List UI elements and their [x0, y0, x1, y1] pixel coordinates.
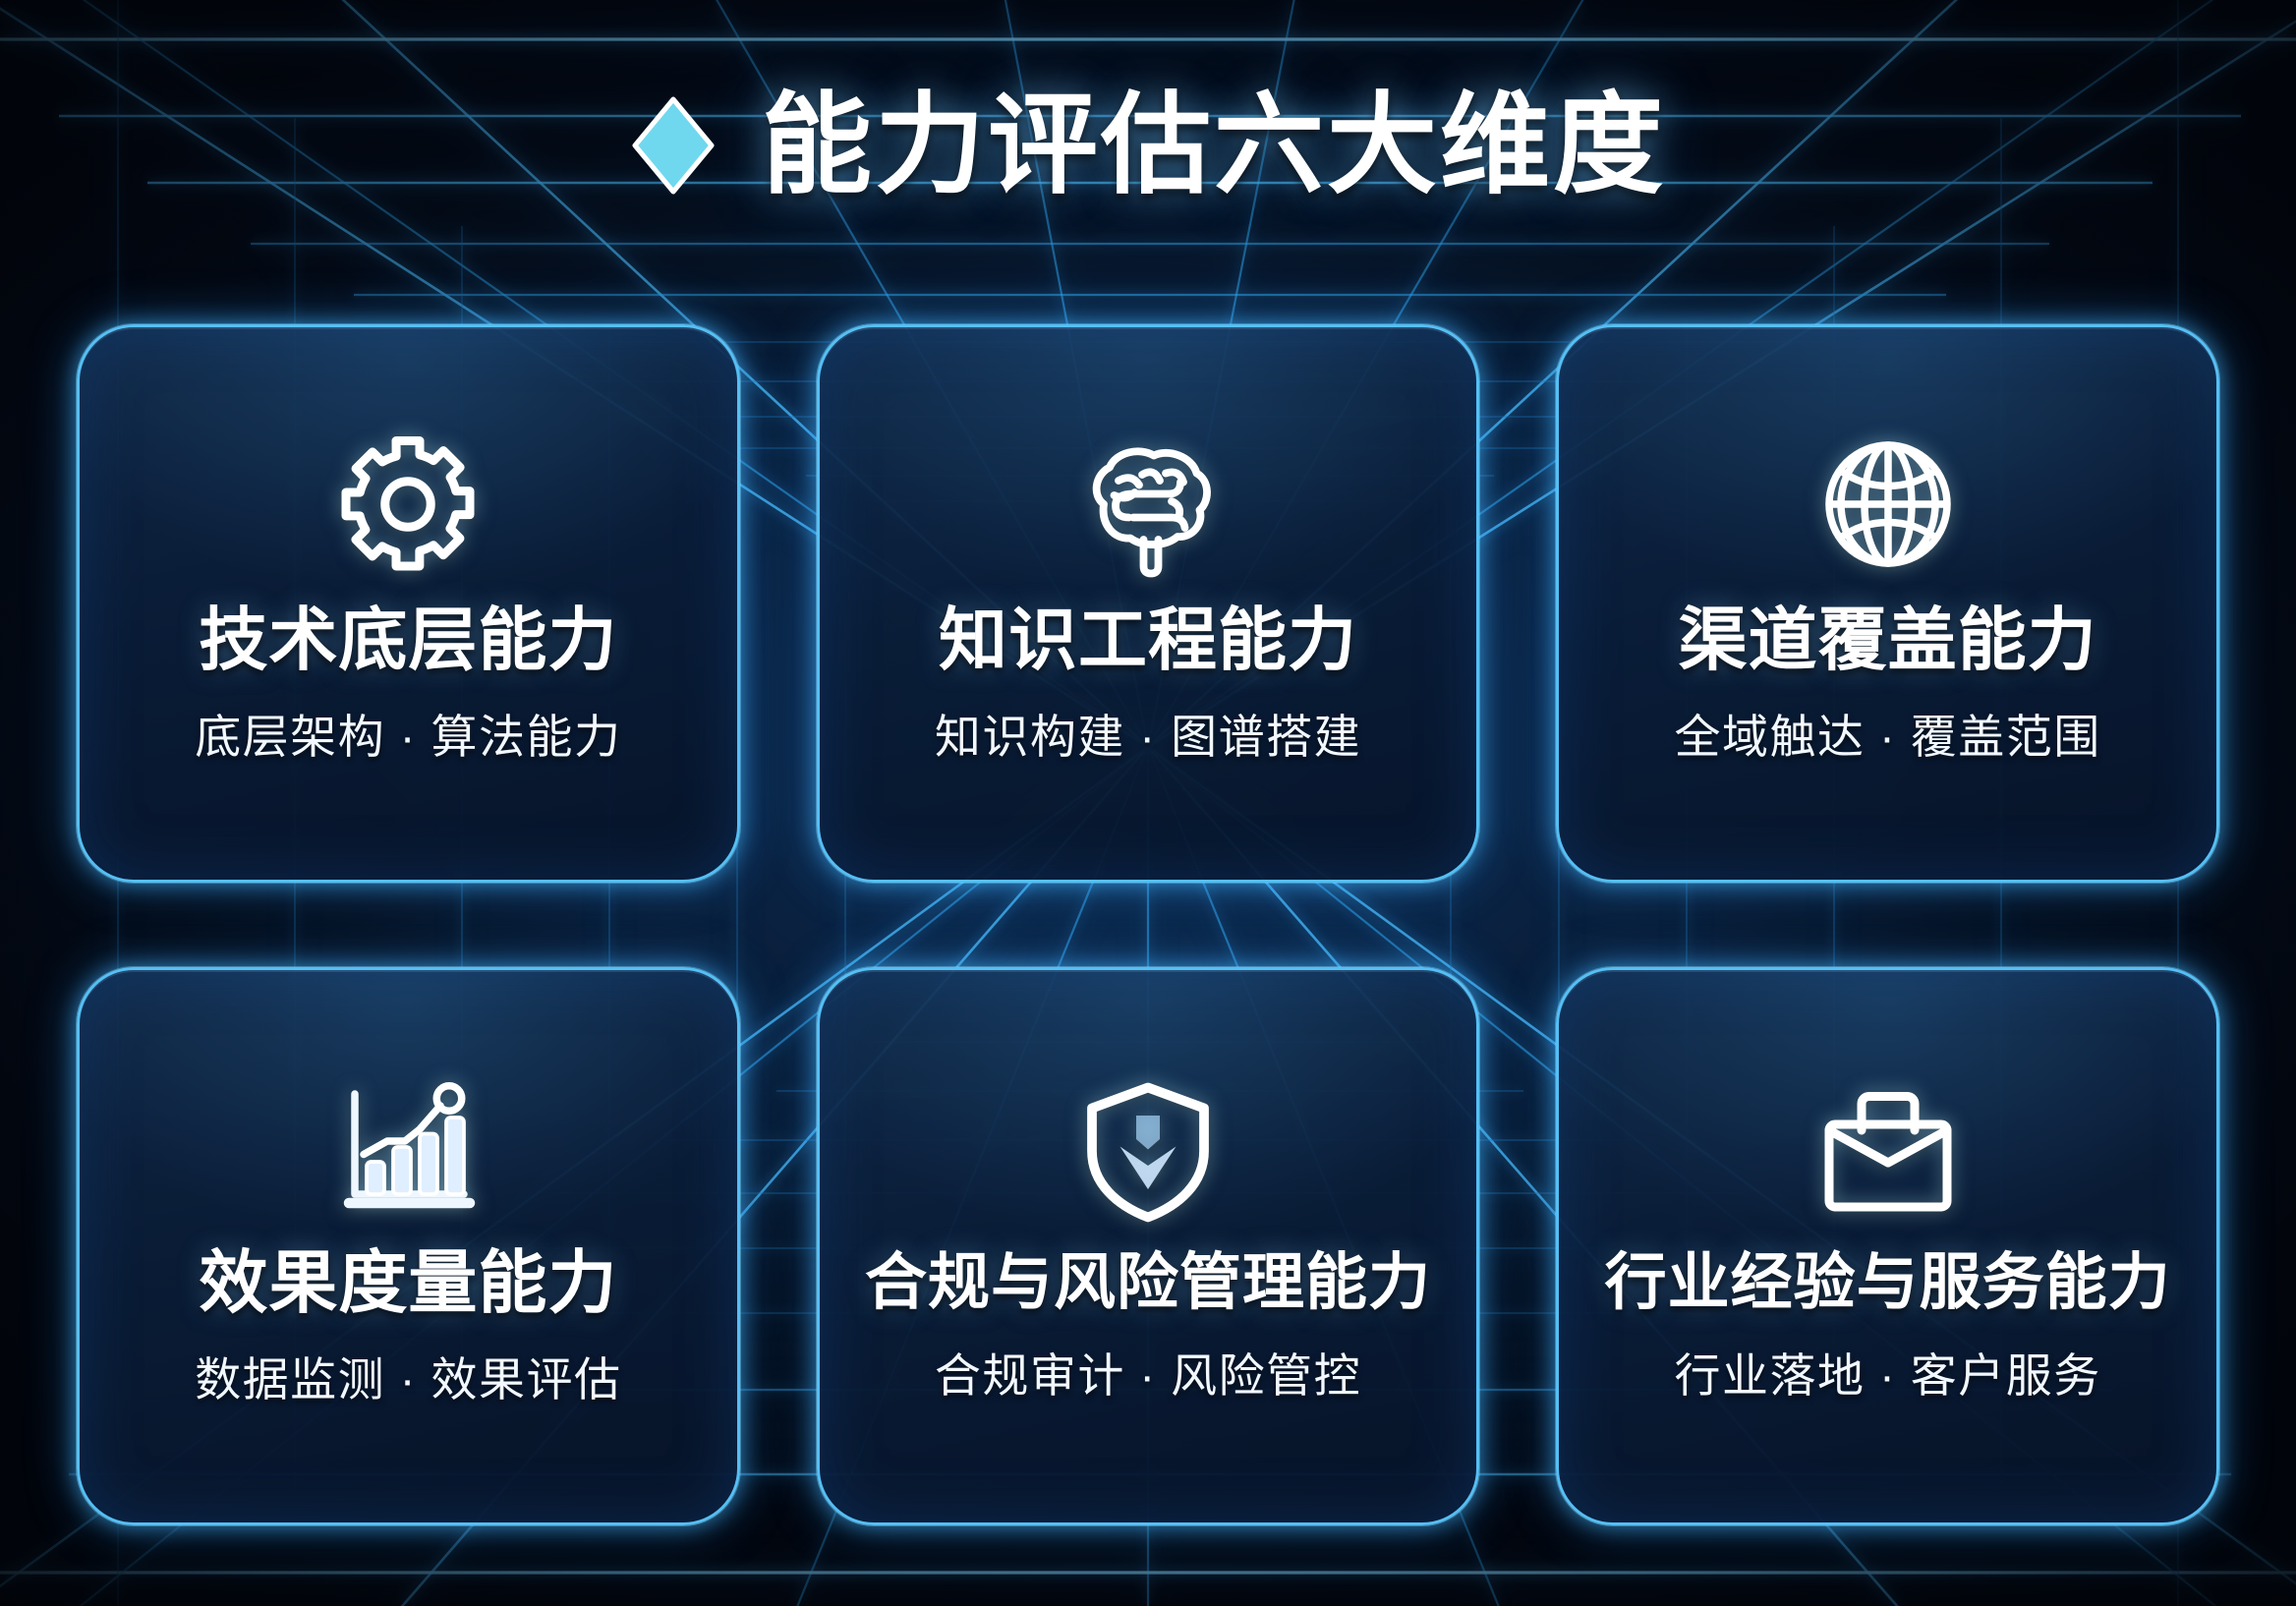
briefcase-icon — [1814, 1077, 1962, 1225]
card-subtitle: 底层架构 · 算法能力 — [195, 699, 621, 767]
capability-card[interactable]: 技术底层能力 底层架构 · 算法能力 — [77, 324, 740, 883]
brain-icon — [1074, 430, 1222, 578]
card-subtitle: 知识构建 · 图谱搭建 — [935, 699, 1361, 767]
card-title: 效果度量能力 — [199, 1246, 617, 1319]
card-title: 技术底层能力 — [199, 603, 617, 676]
capability-card[interactable]: 合规与风险管理能力 合规审计 · 风险管控 — [817, 967, 1480, 1525]
shield-check-icon — [1074, 1077, 1222, 1225]
capability-card[interactable]: 行业经验与服务能力 行业落地 · 客户服务 — [1556, 967, 2219, 1525]
card-title: 行业经验与服务能力 — [1605, 1250, 2171, 1316]
globe-icon — [1814, 430, 1962, 578]
card-subtitle: 全域触达 · 覆盖范围 — [1675, 699, 2101, 767]
capability-card[interactable]: 知识工程能力 知识构建 · 图谱搭建 — [817, 324, 1480, 883]
card-subtitle: 行业落地 · 客户服务 — [1675, 1338, 2101, 1405]
card-subtitle: 合规审计 · 风险管控 — [935, 1338, 1361, 1405]
page-header: 能力评估六大维度 — [0, 90, 2296, 201]
card-title: 合规与风险管理能力 — [865, 1250, 1431, 1316]
page-title: 能力评估六大维度 — [762, 90, 1666, 201]
diamond-icon — [630, 94, 717, 197]
bar-chart-icon — [334, 1073, 482, 1221]
card-title: 渠道覆盖能力 — [1679, 603, 2097, 676]
capability-card[interactable]: 渠道覆盖能力 全域触达 · 覆盖范围 — [1556, 324, 2219, 883]
capability-card-grid: 技术底层能力 底层架构 · 算法能力 — [77, 324, 2219, 1525]
capability-card[interactable]: 效果度量能力 数据监测 · 效果评估 — [77, 967, 740, 1525]
background-stage: 能力评估六大维度 技术底层能力 底层架构 · 算法能力 — [0, 0, 2296, 1606]
card-title: 知识工程能力 — [939, 603, 1357, 676]
gear-icon — [334, 430, 482, 578]
card-subtitle: 数据监测 · 效果评估 — [195, 1342, 621, 1409]
